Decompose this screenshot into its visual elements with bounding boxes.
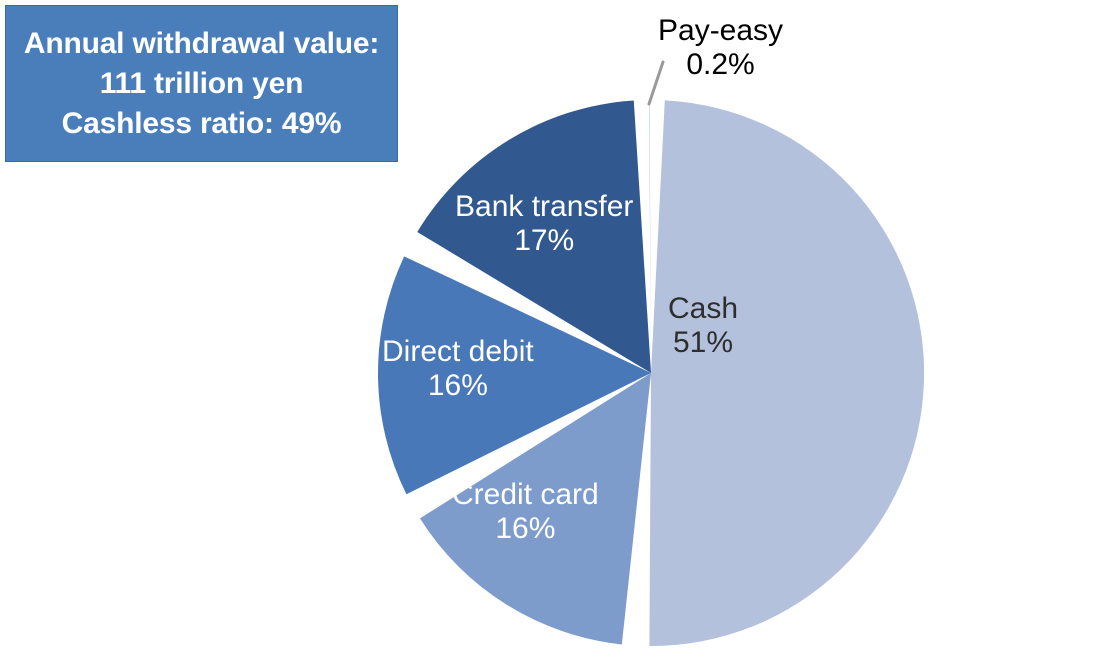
pie-slice-group xyxy=(378,100,924,646)
pie-leader-line-group xyxy=(649,62,663,104)
chart-canvas: Annual withdrawal value: 111 trillion ye… xyxy=(0,0,1120,668)
pie-chart xyxy=(0,0,1120,668)
pie-slice-cash xyxy=(649,100,924,646)
pay-easy-leader-line xyxy=(649,62,663,104)
pie-slice-pay-easy xyxy=(649,100,651,373)
pie-chart-svg xyxy=(0,0,1120,668)
